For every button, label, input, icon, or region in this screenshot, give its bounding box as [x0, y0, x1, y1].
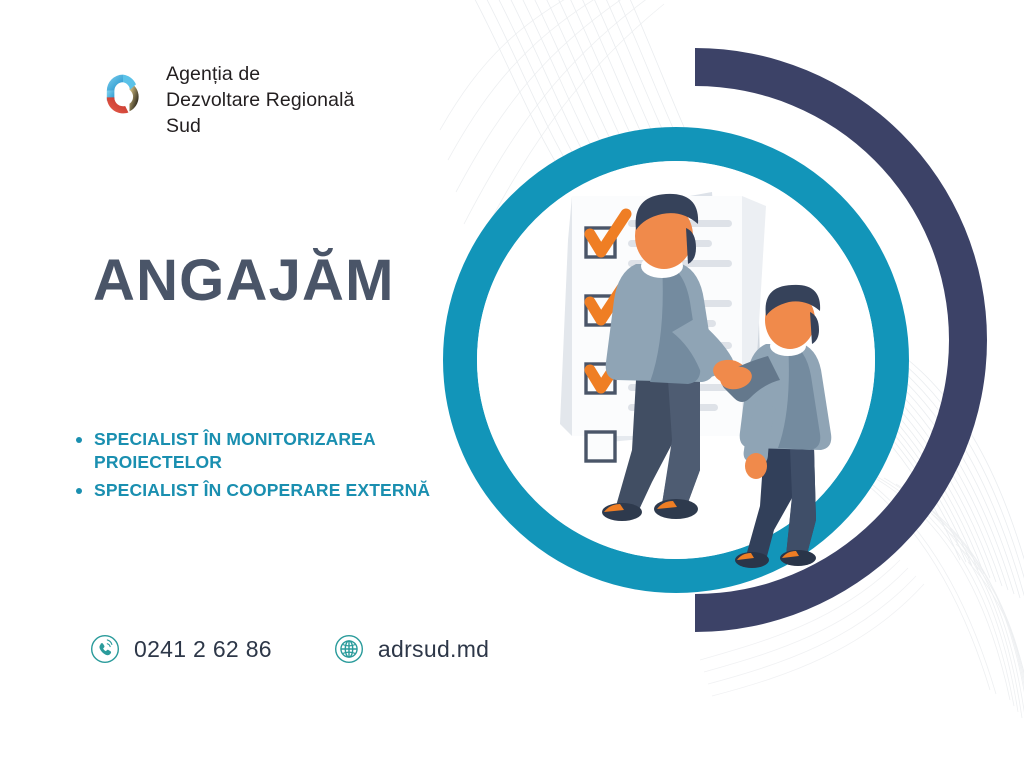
shoe-left-a: [602, 503, 642, 521]
phone-icon: [90, 634, 120, 664]
list-item: SPECIALIST ÎN MONITORIZAREA PROIECTELOR: [66, 428, 446, 475]
globe-icon: [334, 634, 364, 664]
contact-phone[interactable]: 0241 2 62 86: [90, 634, 272, 664]
phone-number: 0241 2 62 86: [134, 636, 272, 663]
job-positions-list: SPECIALIST ÎN MONITORIZAREA PROIECTELOR …: [66, 428, 446, 506]
website-url: adrsud.md: [378, 636, 489, 663]
contact-website[interactable]: adrsud.md: [334, 634, 489, 664]
shoe-left-b: [654, 499, 698, 519]
brand-logo-block: Agenția de Dezvoltare Regională Sud: [96, 62, 354, 140]
adr-pinwheel-logo-icon: [96, 66, 150, 120]
poster-canvas: Agenția de Dezvoltare Regională Sud ANGA…: [0, 0, 1024, 768]
artwork-illustration: [400, 0, 1024, 700]
checkbox-4: [586, 432, 615, 461]
page-title: ANGAJĂM: [93, 252, 395, 310]
organization-name: Agenția de Dezvoltare Regională Sud: [166, 62, 354, 140]
contact-bar: 0241 2 62 86 adrsud.md: [90, 634, 489, 664]
shoe-right-a: [735, 552, 769, 568]
list-item: SPECIALIST ÎN COOPERARE EXTERNĂ: [66, 479, 446, 502]
shoe-right-b: [780, 550, 816, 566]
